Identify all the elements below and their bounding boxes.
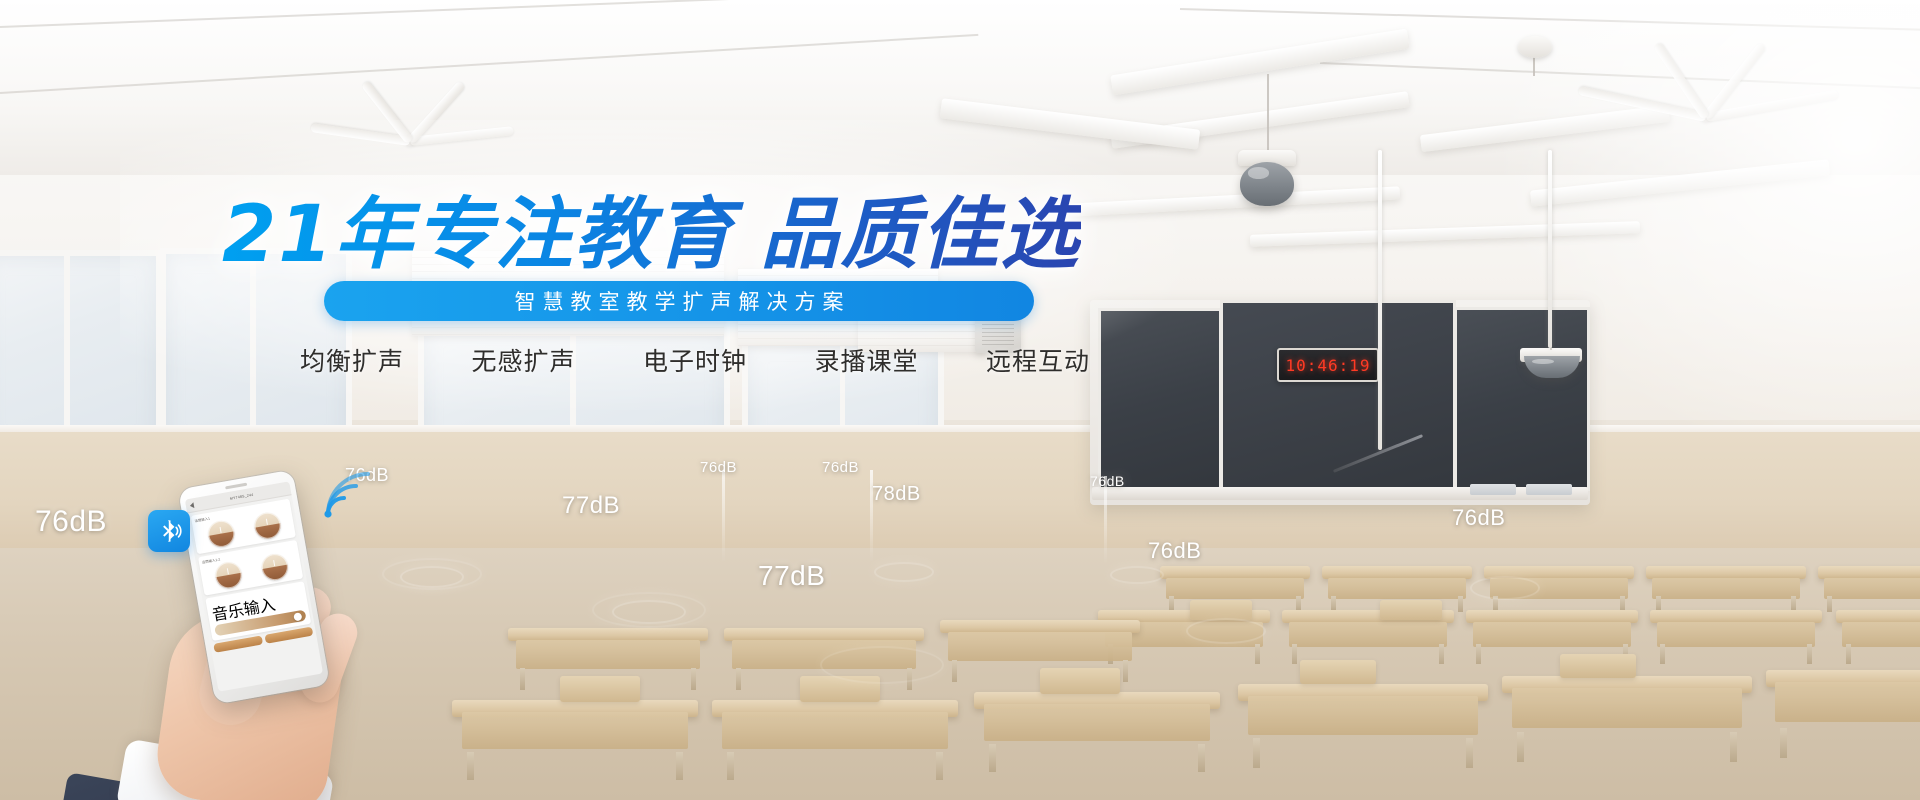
volume-knob[interactable] xyxy=(206,519,236,549)
ceiling-seam xyxy=(0,0,1159,28)
db-label: 76dB xyxy=(1090,473,1125,489)
wireless-antenna-pole xyxy=(1548,150,1552,348)
db-label: 76dB xyxy=(700,459,737,476)
db-label: 76dB xyxy=(1452,505,1505,531)
student-chair xyxy=(1560,654,1636,678)
digital-clock: 10:46:19 xyxy=(1277,348,1379,382)
blackboard-panel-left xyxy=(1098,308,1222,496)
bluetooth-badge xyxy=(148,510,190,552)
sound-ripple xyxy=(1110,566,1164,584)
wireless-signal-icon xyxy=(318,468,374,524)
student-desk xyxy=(974,692,1220,772)
student-desk xyxy=(1836,610,1920,664)
headline-part-1: 21年专注教育 xyxy=(222,190,735,280)
db-label: 76dB xyxy=(822,459,859,476)
window xyxy=(0,250,162,452)
slider-handle[interactable] xyxy=(293,612,302,621)
sound-ripple xyxy=(592,592,706,628)
back-arrow-icon[interactable] xyxy=(189,502,194,509)
ceiling-fan xyxy=(300,110,520,170)
volume-knob[interactable] xyxy=(213,560,243,590)
feature-item-3: 录播课堂 xyxy=(814,342,918,378)
feature-item-2: 电子时钟 xyxy=(643,342,747,378)
student-desk xyxy=(1502,676,1752,762)
wireless-signal-indicator xyxy=(318,468,374,524)
banner-stage: 10:46:19 xyxy=(0,0,1920,800)
student-desk xyxy=(1766,670,1920,758)
sound-ripple xyxy=(1470,576,1540,600)
student-chair xyxy=(1380,600,1442,620)
volume-knob[interactable] xyxy=(259,552,289,582)
student-desk xyxy=(1646,566,1806,612)
sound-ripple xyxy=(820,646,944,684)
feature-item-0: 均衡扩声 xyxy=(300,342,404,378)
student-desk xyxy=(712,700,958,780)
blackboard-panel-right xyxy=(1454,307,1590,491)
pendant-speaker-mount xyxy=(1250,74,1286,158)
ceiling-seam xyxy=(0,34,978,94)
student-desk xyxy=(1818,566,1920,612)
subtitle-pill: 智慧教室教学扩声解决方案 xyxy=(324,281,1034,321)
student-desk xyxy=(1650,610,1822,664)
student-chair xyxy=(1190,600,1252,620)
student-desk xyxy=(452,700,698,780)
sound-ripple xyxy=(1186,618,1266,644)
digital-clock-time: 10:46:19 xyxy=(1285,356,1370,375)
blackboard-control-panel xyxy=(1526,484,1572,495)
feature-list: 均衡扩声 无感扩声 电子时钟 录播课堂 远程互动 xyxy=(300,342,1090,378)
page-headline: 21年专注教育品质佳选 xyxy=(222,172,1081,284)
bluetooth-icon xyxy=(156,518,182,544)
student-chair xyxy=(560,676,640,702)
student-chair xyxy=(1040,668,1120,694)
headline-part-2: 品质佳选 xyxy=(761,190,1081,280)
ceiling-speaker-dome xyxy=(1240,162,1294,206)
feature-item-1: 无感扩声 xyxy=(471,342,575,378)
sound-ripple xyxy=(874,562,934,582)
blackboard-panel-center xyxy=(1220,300,1456,494)
db-label: 77dB xyxy=(758,560,825,592)
db-label: 78dB xyxy=(872,483,921,506)
ceiling-sensor xyxy=(1518,36,1552,58)
student-chair xyxy=(1300,660,1376,684)
volume-knob[interactable] xyxy=(252,511,282,541)
db-label: 77dB xyxy=(562,492,620,520)
db-label: 76dB xyxy=(1148,538,1201,564)
db-label: 76dB xyxy=(35,505,107,539)
app-content: 话筒输入1 话筒输入1-2 音乐输入 xyxy=(187,495,317,656)
feature-item-4: 远程互动 xyxy=(986,342,1090,378)
student-desk xyxy=(1238,684,1488,768)
blackboard-control-panel xyxy=(1470,484,1516,495)
subtitle-pill-text: 智慧教室教学扩声解决方案 xyxy=(508,286,851,316)
wireless-antenna-pole xyxy=(1378,150,1382,450)
sound-beam xyxy=(722,470,725,562)
sound-beam xyxy=(1104,476,1107,564)
